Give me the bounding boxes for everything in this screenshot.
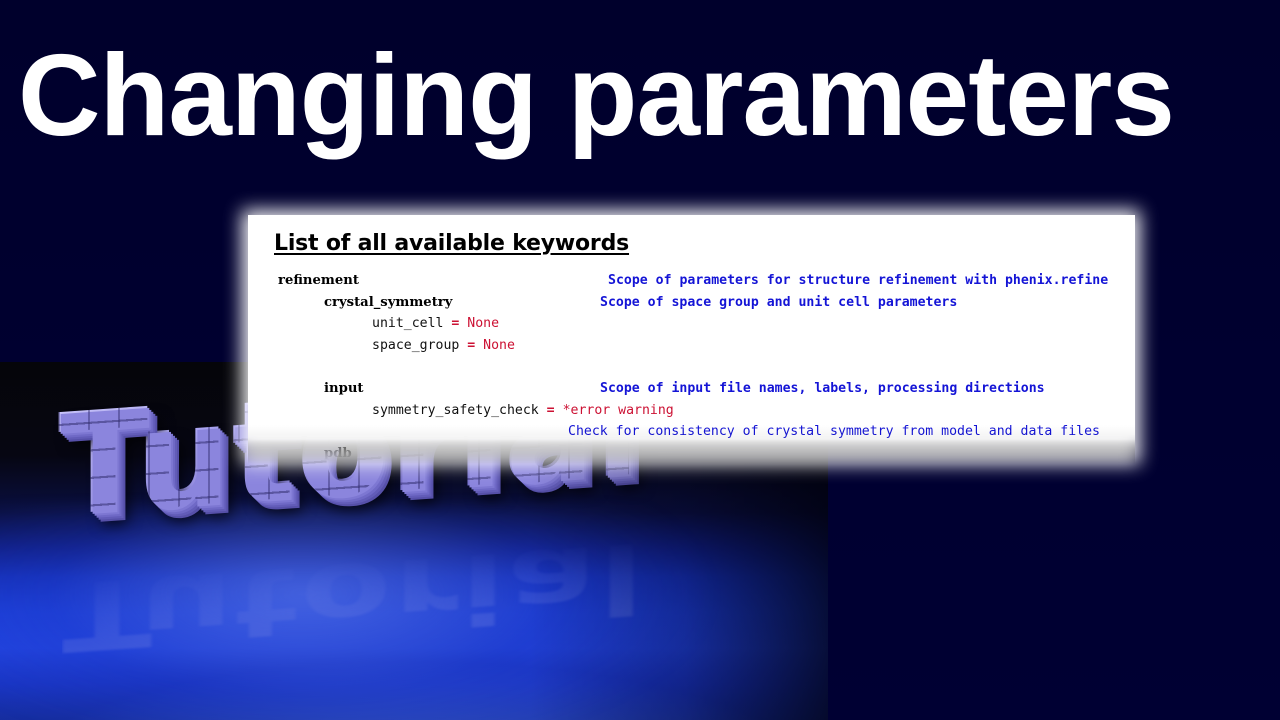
scope-name: pdb	[324, 446, 352, 461]
keyword-entry: input	[324, 381, 364, 396]
parameter-value: None	[483, 338, 515, 353]
parameter-description: Scope of input file names, labels, proce…	[600, 381, 1045, 396]
scope-name: refinement	[278, 273, 359, 288]
parameter-name: space_group	[372, 338, 459, 353]
keyword-row: unit_cell = None	[248, 316, 1135, 338]
equals-sign: =	[539, 403, 563, 418]
equals-sign: =	[443, 316, 467, 331]
keyword-panel: List of all available keywords refinemen…	[238, 206, 1144, 468]
parameter-name: symmetry_safety_check	[372, 403, 539, 418]
panel-surface: List of all available keywords refinemen…	[248, 215, 1135, 464]
keyword-entry: symmetry_safety_check = *error warning	[372, 403, 674, 418]
keyword-entry: unit_cell = None	[372, 316, 499, 331]
keyword-row: crystal_symmetryScope of space group and…	[248, 295, 1135, 317]
scope-name: input	[324, 381, 364, 396]
keyword-row: refinementScope of parameters for struct…	[248, 273, 1135, 295]
keyword-entry: pdb	[324, 446, 352, 461]
keyword-entry: refinement	[278, 273, 359, 288]
parameter-description: Scope of parameters for structure refine…	[608, 273, 1108, 288]
panel-heading: List of all available keywords	[274, 231, 629, 256]
equals-sign: =	[459, 338, 483, 353]
keyword-row: pdb	[248, 446, 1135, 464]
keyword-row: Check for consistency of crystal symmetr…	[248, 424, 1135, 446]
keyword-entry: crystal_symmetry	[324, 295, 452, 310]
keyword-entry: space_group = None	[372, 338, 515, 353]
slide-root: Tutorial Tutorial Tutorial Changing para…	[0, 0, 1280, 720]
parameter-name: unit_cell	[372, 316, 443, 331]
keyword-row	[248, 359, 1135, 381]
keyword-row: space_group = None	[248, 338, 1135, 360]
parameter-value: None	[467, 316, 499, 331]
page-title: Changing parameters	[18, 36, 1249, 154]
keyword-row: inputScope of input file names, labels, …	[248, 381, 1135, 403]
parameter-value: *error warning	[563, 403, 674, 418]
keyword-row: symmetry_safety_check = *error warning	[248, 403, 1135, 425]
parameter-description: Check for consistency of crystal symmetr…	[568, 424, 1100, 439]
keyword-list: refinementScope of parameters for struct…	[248, 273, 1135, 464]
scope-name: crystal_symmetry	[324, 295, 452, 310]
parameter-description: Scope of space group and unit cell param…	[600, 295, 957, 310]
